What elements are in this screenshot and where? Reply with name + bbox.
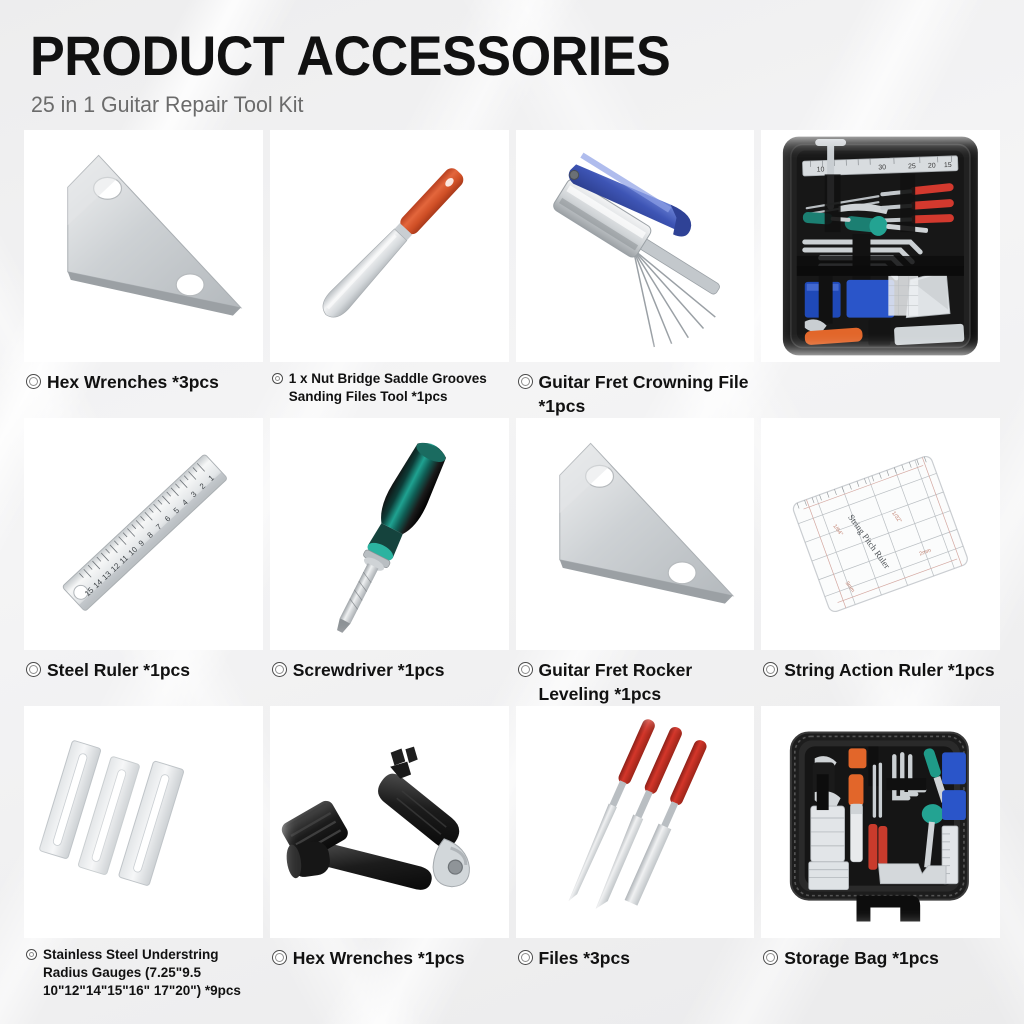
accessory-label: Storage Bag *1pcs <box>784 946 939 970</box>
accessory-label: Stainless Steel Understring Radius Gauge… <box>43 946 261 1000</box>
storage-bag-icon <box>761 706 1000 938</box>
caption-nut-bridge-saddle: 1 x Nut Bridge Saddle Grooves Sanding Fi… <box>270 362 509 418</box>
bullet-icon <box>518 662 533 677</box>
screwdriver-icon <box>270 418 509 650</box>
bullet-icon <box>763 662 778 677</box>
page-title: PRODUCT ACCESSORIES <box>30 28 932 84</box>
product-photo-fret-rocker-leveling <box>516 418 755 650</box>
accessory-cell-fret-rocker-leveling: Guitar Fret Rocker Leveling *1pcs <box>516 418 755 706</box>
accessory-label: Guitar Fret Crowning File *1pcs <box>539 370 753 418</box>
accessory-label: Screwdriver *1pcs <box>293 658 445 682</box>
bullet-icon <box>518 950 533 965</box>
accessory-cell-storage-bag-open: 302520 1510 <box>761 130 1000 418</box>
svg-text:30: 30 <box>878 164 886 171</box>
product-photo-nut-bridge-saddle <box>270 130 509 362</box>
caption-screwdriver: Screwdriver *1pcs <box>270 650 509 706</box>
accessory-label: 1 x Nut Bridge Saddle Grooves Sanding Fi… <box>289 370 507 406</box>
svg-text:15: 15 <box>944 162 952 169</box>
caption-storage-bag-open <box>761 362 1000 418</box>
fret-rocker-leveling-icon <box>516 418 755 650</box>
bullet-icon <box>26 662 41 677</box>
fret-crowning-file-icon <box>516 130 755 362</box>
caption-fret-rocker-leveling: Guitar Fret Rocker Leveling *1pcs <box>516 650 755 706</box>
accessory-label: Hex Wrenches *1pcs <box>293 946 465 970</box>
needle-files-icon <box>516 706 755 938</box>
accessory-cell-fret-crowning-file: Guitar Fret Crowning File *1pcs <box>516 130 755 418</box>
product-photo-screwdriver <box>270 418 509 650</box>
page-subtitle: 25 in 1 Guitar Repair Tool Kit <box>31 92 971 118</box>
bullet-icon <box>272 373 283 384</box>
product-photo-steel-ruler: 123 456 789 101112 131415 <box>24 418 263 650</box>
string-winder-icon <box>270 706 509 938</box>
accessory-label: Hex Wrenches *3pcs <box>47 370 219 394</box>
product-accessories-page: PRODUCT ACCESSORIES 25 in 1 Guitar Repai… <box>0 0 1024 1024</box>
accessory-cell-string-action-ruler: String Pitch Ruler 1/64" 1/32" 2mm 3mm S… <box>761 418 1000 706</box>
caption-steel-ruler: Steel Ruler *1pcs <box>24 650 263 706</box>
accessory-label: Steel Ruler *1pcs <box>47 658 190 682</box>
accessory-cell-radius-gauges: Stainless Steel Understring Radius Gauge… <box>24 706 263 1000</box>
bullet-icon <box>518 374 533 389</box>
product-photo-hex-wrenches-3pcs <box>24 130 263 362</box>
accessory-cell-files-3pcs: Files *3pcs <box>516 706 755 1000</box>
steel-ruler-icon: 123 456 789 101112 131415 <box>24 418 263 650</box>
svg-text:25: 25 <box>908 163 916 170</box>
string-action-ruler-icon: String Pitch Ruler 1/64" 1/32" 2mm 3mm <box>761 418 1000 650</box>
bullet-icon <box>26 949 37 960</box>
bullet-icon <box>272 662 287 677</box>
bullet-icon <box>26 374 41 389</box>
product-photo-string-action-ruler: String Pitch Ruler 1/64" 1/32" 2mm 3mm <box>761 418 1000 650</box>
accessory-cell-nut-bridge-saddle: 1 x Nut Bridge Saddle Grooves Sanding Fi… <box>270 130 509 418</box>
bullet-icon <box>763 950 778 965</box>
accessory-label: Guitar Fret Rocker Leveling *1pcs <box>539 658 753 706</box>
caption-hex-wrenches-3pcs: Hex Wrenches *3pcs <box>24 362 263 418</box>
caption-files-3pcs: Files *3pcs <box>516 938 755 994</box>
product-photo-storage-bag-open: 302520 1510 <box>761 130 1000 362</box>
accessory-cell-storage-bag: Storage Bag *1pcs <box>761 706 1000 1000</box>
caption-hex-wrenches-1pcs: Hex Wrenches *1pcs <box>270 938 509 994</box>
product-photo-hex-wrenches-1pcs <box>270 706 509 938</box>
caption-string-action-ruler: String Action Ruler *1pcs <box>761 650 1000 706</box>
product-photo-files-3pcs <box>516 706 755 938</box>
caption-storage-bag: Storage Bag *1pcs <box>761 938 1000 994</box>
tool-bag-open-icon: 302520 1510 <box>761 130 1000 362</box>
accessory-label: Files *3pcs <box>539 946 630 970</box>
product-photo-storage-bag <box>761 706 1000 938</box>
accessory-label: String Action Ruler *1pcs <box>784 658 994 682</box>
bullet-icon <box>272 950 287 965</box>
accessories-grid: Hex Wrenches *3pcs <box>24 130 1000 1000</box>
accessory-cell-hex-wrenches-1pcs: Hex Wrenches *1pcs <box>270 706 509 1000</box>
accessory-cell-steel-ruler: 123 456 789 101112 131415 Steel Ruler *1… <box>24 418 263 706</box>
radius-gauges-icon <box>24 706 263 938</box>
caption-fret-crowning-file: Guitar Fret Crowning File *1pcs <box>516 362 755 418</box>
svg-text:20: 20 <box>928 162 936 169</box>
caption-radius-gauges: Stainless Steel Understring Radius Gauge… <box>24 938 263 1000</box>
fret-rocker-icon <box>24 130 263 362</box>
accessory-cell-hex-wrenches-3pcs: Hex Wrenches *3pcs <box>24 130 263 418</box>
svg-text:10: 10 <box>817 166 825 173</box>
product-photo-fret-crowning-file <box>516 130 755 362</box>
accessory-cell-screwdriver: Screwdriver *1pcs <box>270 418 509 706</box>
product-photo-radius-gauges <box>24 706 263 938</box>
sanding-file-icon <box>270 130 509 362</box>
